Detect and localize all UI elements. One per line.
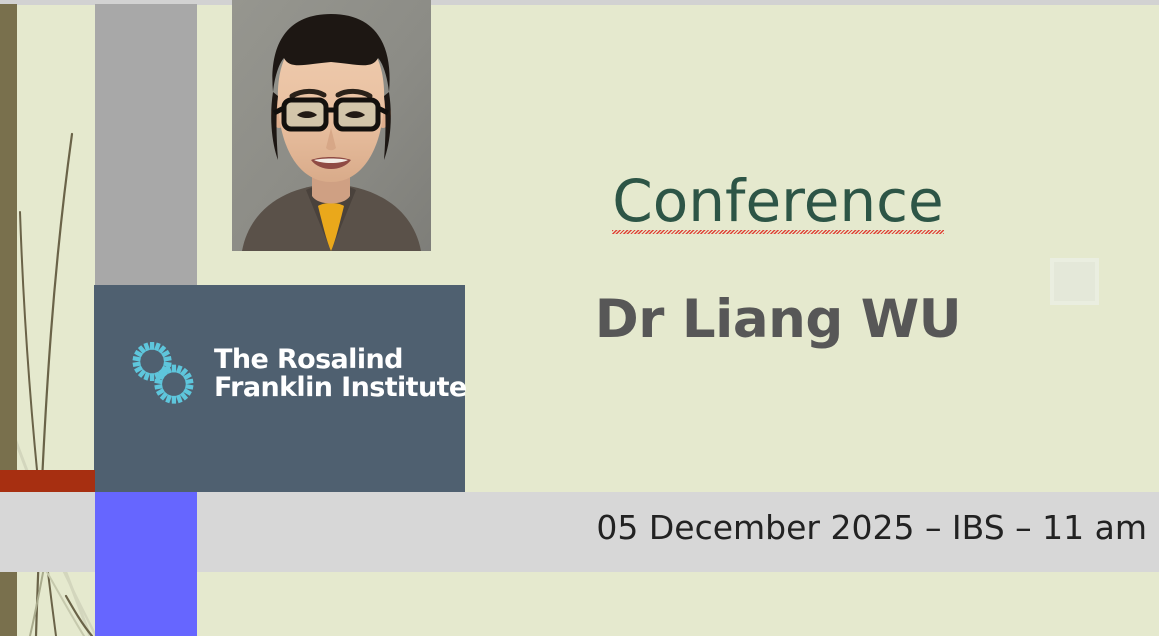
presentation-slide: The Rosalind Franklin Institute Conferen… xyxy=(0,0,1159,636)
institute-logo: The Rosalind Franklin Institute xyxy=(124,335,467,413)
red-accent-bar xyxy=(0,470,95,492)
event-datetime: 05 December 2025 – IBS – 11 am xyxy=(596,511,1147,544)
rosalind-franklin-sunburst-icon xyxy=(124,335,202,413)
institute-logo-line2: Franklin Institute xyxy=(214,374,467,402)
institute-logo-line1: The Rosalind xyxy=(214,346,467,374)
speaker-name: Dr Liang WU xyxy=(470,293,1086,346)
slide-title: Conference xyxy=(470,172,1086,234)
speaker-portrait xyxy=(232,0,431,251)
blue-accent-rectangle xyxy=(95,492,197,636)
institute-logo-panel: The Rosalind Franklin Institute xyxy=(94,285,465,492)
gray-column-block xyxy=(95,4,197,285)
slide-title-text: Conference xyxy=(612,172,943,234)
institute-logo-text: The Rosalind Franklin Institute xyxy=(214,346,467,402)
